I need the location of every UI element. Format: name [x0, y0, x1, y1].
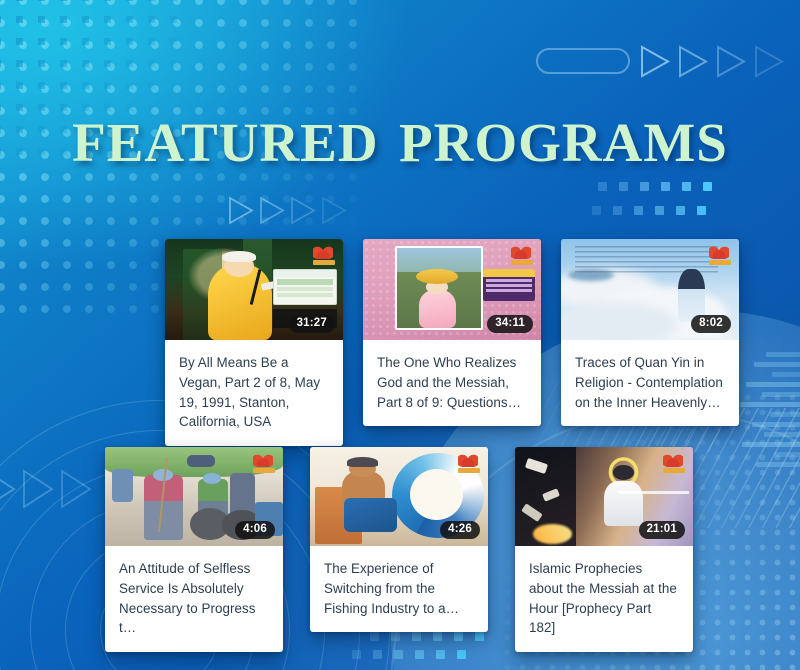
program-card[interactable]: 31:27 By All Means Be a Vegan, Part 2 of…: [165, 239, 343, 446]
program-thumbnail[interactable]: 34:11: [363, 239, 541, 340]
program-thumbnail[interactable]: 4:06: [105, 447, 283, 546]
program-title: Islamic Prophecies about the Messiah at …: [515, 546, 693, 652]
equalizer-bars-right: [730, 352, 800, 492]
program-title: The One Who Realizes God and the Messiah…: [363, 340, 541, 426]
program-card[interactable]: 4:06 An Attitude of Selfless Service Is …: [105, 447, 283, 652]
program-thumbnail[interactable]: 31:27: [165, 239, 343, 340]
page-title: Featured Programs: [0, 96, 800, 174]
video-duration-badge: 21:01: [639, 521, 685, 540]
program-card[interactable]: 21:01 Islamic Prophecies about the Messi…: [515, 447, 693, 652]
featured-programs-banner: Featured Programs: [0, 0, 800, 670]
org-logo-icon: [709, 245, 731, 267]
program-title: By All Means Be a Vegan, Part 2 of 8, Ma…: [165, 340, 343, 446]
page-title-wrapper: Featured Programs: [0, 96, 800, 174]
org-logo-icon: [663, 453, 685, 475]
org-logo-icon: [253, 453, 275, 475]
square-row-upper-right-a: [598, 182, 712, 191]
program-title: The Experience of Switching from the Fis…: [310, 546, 488, 632]
square-row-upper-right-b: [592, 206, 706, 215]
play-triangle-row-mid-left: [228, 196, 348, 226]
video-duration-badge: 4:26: [440, 521, 480, 540]
program-title: Traces of Quan Yin in Religion - Contemp…: [561, 340, 739, 426]
video-duration-badge: 4:06: [235, 521, 275, 540]
play-triangle-row-left-edge: [0, 468, 104, 512]
rounded-pill-outline-icon: [536, 48, 630, 74]
org-logo-icon: [313, 245, 335, 267]
program-title: An Attitude of Selfless Service Is Absol…: [105, 546, 283, 652]
org-logo-icon: [458, 453, 480, 475]
org-logo-icon: [511, 245, 533, 267]
program-thumbnail[interactable]: 21:01: [515, 447, 693, 546]
video-duration-badge: 34:11: [487, 315, 533, 334]
program-card[interactable]: 4:26 The Experience of Switching from th…: [310, 447, 488, 632]
play-triangle-row-top-right: [640, 44, 786, 80]
program-thumbnail[interactable]: 4:26: [310, 447, 488, 546]
program-card[interactable]: 8:02 Traces of Quan Yin in Religion - Co…: [561, 239, 739, 426]
program-thumbnail[interactable]: 8:02: [561, 239, 739, 340]
square-row-bottom-b: [352, 650, 466, 659]
video-duration-badge: 8:02: [691, 315, 731, 334]
square-row-bottom-a: [370, 632, 484, 641]
program-card[interactable]: 34:11 The One Who Realizes God and the M…: [363, 239, 541, 426]
video-duration-badge: 31:27: [289, 315, 335, 334]
